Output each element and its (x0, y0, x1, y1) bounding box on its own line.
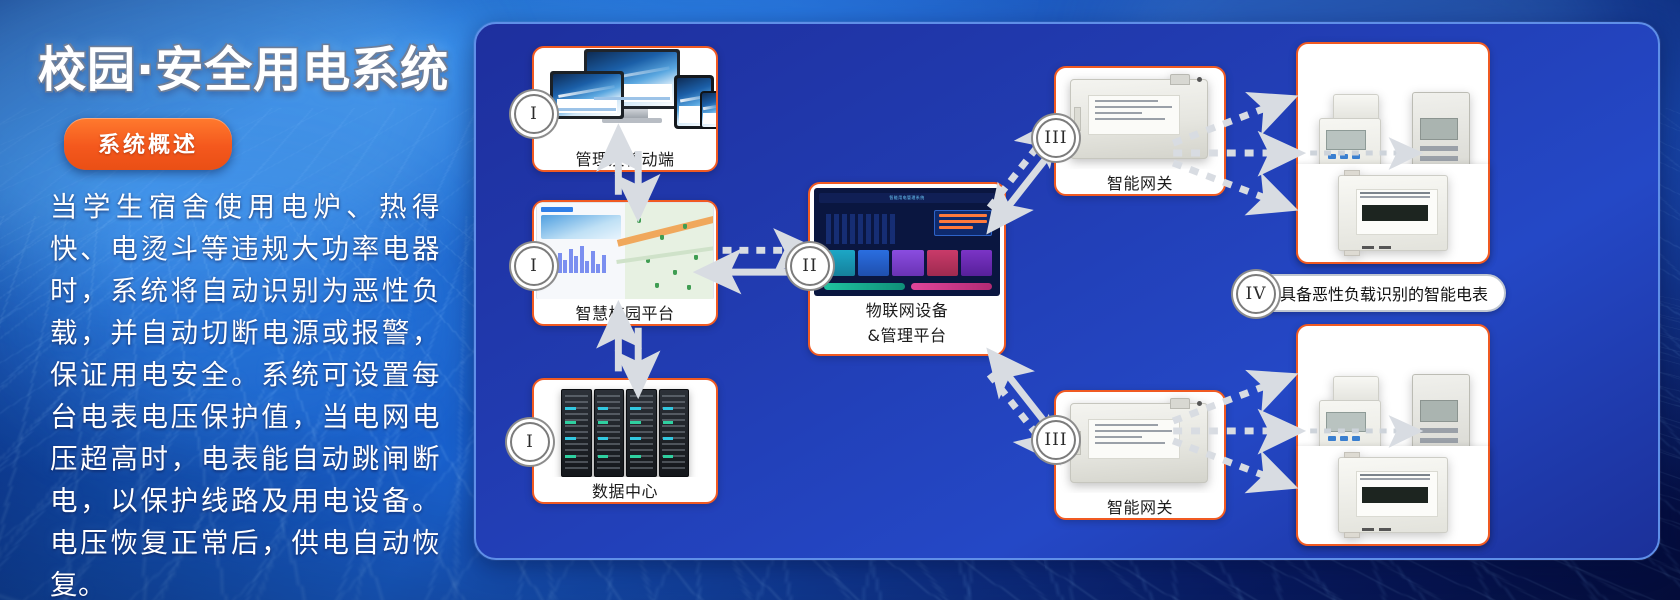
left-column: 校园·安全用电系统 系统概述 当学生宿舍使用电炉、热得快、电烫斗等违规大功率电器… (0, 0, 478, 600)
node-card-admin-mobile[interactable]: 管理及移动端 (532, 46, 718, 172)
node-card-data-center[interactable]: 数据中心 (532, 378, 718, 504)
data-center-thumbnail (534, 380, 716, 477)
smart-meter-three-phase-2 (1334, 451, 1452, 539)
system-overview-paragraph: 当学生宿舍使用电炉、热得快、电烫斗等违规大功率电器时，系统将自动识别为恶性负载，… (50, 186, 440, 600)
node-card-iot-platform[interactable]: 智能用电管理系统 物联网设备 &管理平台 (808, 182, 1006, 356)
numeral-badge-data-center: I (510, 422, 550, 462)
admin-mobile-thumbnail (534, 48, 716, 145)
iot-platform-caption-line2: &管理平台 (862, 321, 953, 346)
gateway-bottom-caption: 智能网关 (1101, 493, 1179, 518)
smart-campus-caption: 智慧校园平台 (569, 299, 680, 324)
page-title: 校园·安全用电系统 (38, 30, 448, 100)
numeral-badge-gateway-bottom: III (1036, 420, 1076, 460)
meter-group-bottom-wide[interactable] (1296, 446, 1490, 546)
iot-platform-thumbnail: 智能用电管理系统 (810, 184, 1004, 296)
smart-meter-pill-text: 具备恶性负载识别的智能电表 (1280, 281, 1488, 305)
admin-mobile-caption: 管理及移动端 (569, 145, 680, 170)
architecture-diagram-panel: 管理及移动端 I (474, 22, 1660, 560)
gateway-bottom-thumbnail (1056, 392, 1224, 493)
iot-platform-caption-line1: 物联网设备 (860, 296, 955, 321)
gateway-top-thumbnail (1056, 68, 1224, 169)
numeral-badge-smart-meter: IV (1236, 274, 1276, 314)
arrow-campus-datacenter (618, 328, 638, 372)
data-center-caption: 数据中心 (586, 477, 664, 502)
numeral-badge-admin-mobile: I (514, 94, 554, 134)
node-card-gateway-top[interactable]: 智能网关 (1054, 66, 1226, 196)
arrow-campus-iot (721, 250, 796, 272)
node-card-smart-campus[interactable]: 智慧校园平台 (532, 200, 718, 326)
numeral-badge-gateway-top: III (1036, 118, 1076, 158)
numeral-badge-smart-campus: I (514, 246, 554, 286)
numeral-badge-iot-platform: II (790, 246, 830, 286)
iot-screen-title: 智能用电管理系统 (889, 195, 924, 201)
smart-campus-thumbnail (534, 202, 716, 299)
smart-meter-three-phase (1334, 169, 1452, 257)
meter-group-top-wide[interactable] (1296, 164, 1490, 264)
section-badge-system-overview: 系统概述 (64, 118, 232, 170)
server-rack-icon (561, 381, 689, 477)
node-card-gateway-bottom[interactable]: 智能网关 (1054, 390, 1226, 520)
smart-meter-label-pill[interactable]: 具备恶性负载识别的智能电表 (1238, 274, 1506, 312)
gateway-top-caption: 智能网关 (1101, 169, 1179, 194)
